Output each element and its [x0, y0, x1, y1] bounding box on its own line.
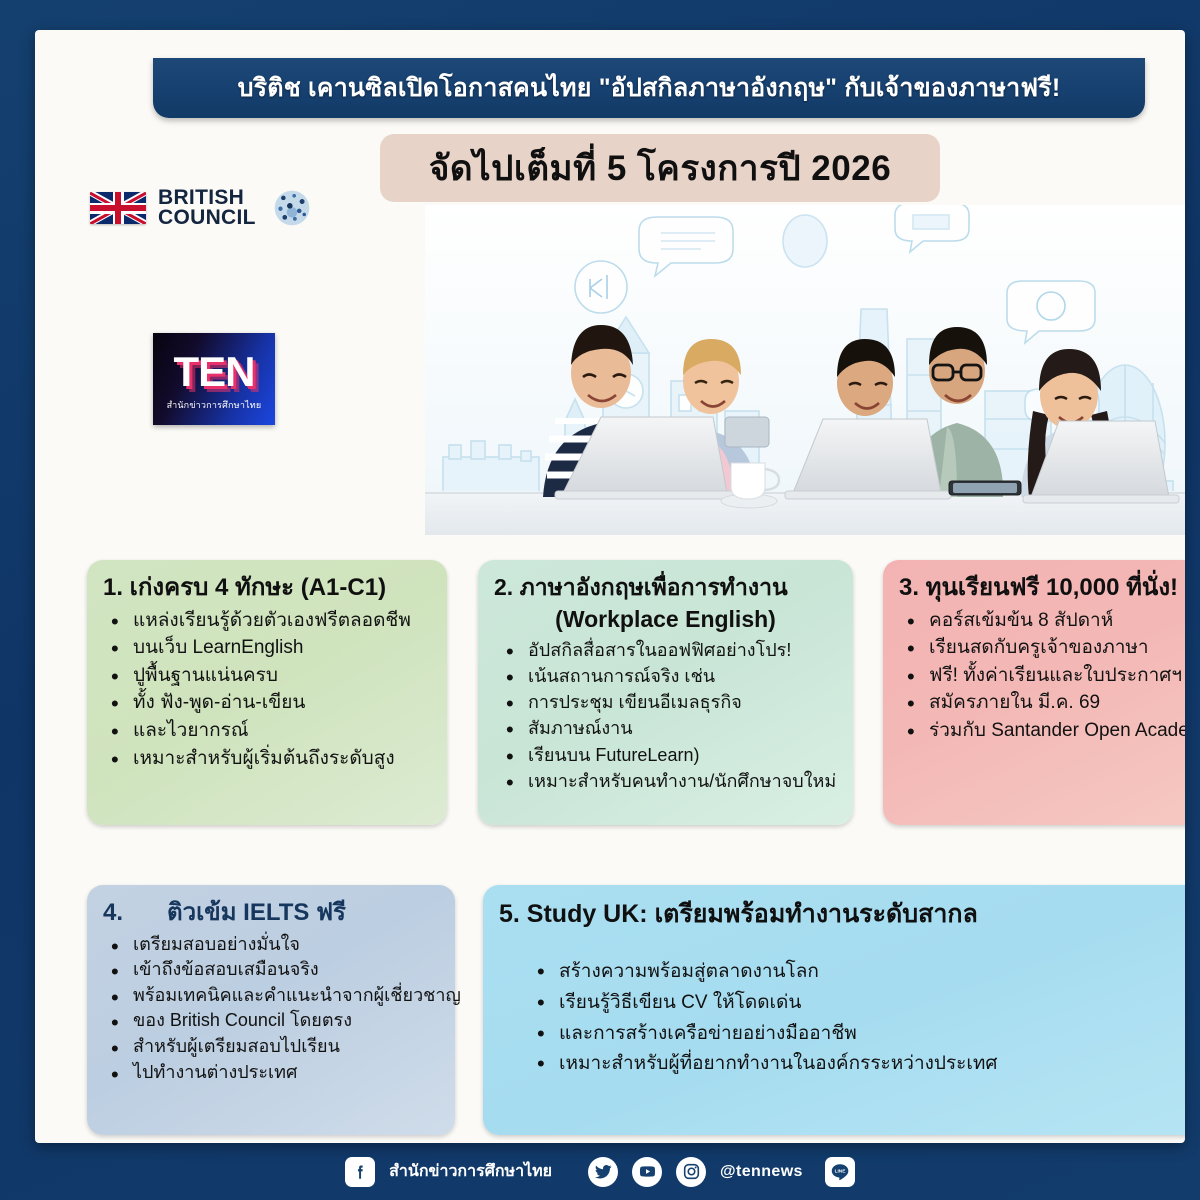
- program-card-4: 4. ติวเข้ม IELTS ฟรี เตรียมสอบอย่างมั่นใ…: [87, 885, 455, 1135]
- card-2-subtitle: (Workplace English): [494, 606, 837, 634]
- card-4-heading: ติวเข้ม IELTS ฟรี: [167, 899, 346, 928]
- facebook-icon[interactable]: [345, 1157, 375, 1187]
- twitter-icon[interactable]: [588, 1157, 618, 1187]
- card-5-list: สร้างความพร้อมสู่ตลาดงานโลก เรียนรู้วิธี…: [499, 957, 1185, 1080]
- list-item: ทั้ง ฟัง-พูด-อ่าน-เขียน: [103, 689, 431, 717]
- facebook-label: สำนักข่าวการศึกษาไทย: [389, 1159, 552, 1184]
- list-item: พร้อมเทคนิคและคำแนะนำจากผู้เชี่ยวชาญ: [103, 983, 439, 1009]
- youtube-icon[interactable]: [632, 1157, 662, 1187]
- list-item: และการสร้างเครือข่ายอย่างมืออาชีพ: [499, 1019, 1185, 1050]
- header-banner: บริติช เคานซิลเปิดโอกาสคนไทย "อัปสกิลภาษ…: [153, 58, 1145, 118]
- british-council-logo: BRITISH COUNCIL: [90, 188, 310, 228]
- list-item: เข้าถึงข้อสอบเสมือนจริง: [103, 957, 439, 983]
- british-council-globe-icon: [274, 190, 310, 226]
- program-card-3: 3. ทุนเรียนฟรี 10,000 ที่นั่ง! คอร์สเข้ม…: [883, 560, 1185, 825]
- subtitle-pill: จัดไปเต็มที่ 5 โครงการปี 2026: [380, 134, 940, 202]
- list-item: สัมภาษณ์งาน: [494, 715, 837, 741]
- list-item: เหมาะสำหรับผู้ที่อยากทำงานในองค์กรระหว่า…: [499, 1049, 1185, 1080]
- list-item: เหมาะสำหรับผู้เริ่มต้นถึงระดับสูง: [103, 745, 431, 773]
- list-item: ของ British Council โดยตรง: [103, 1008, 439, 1034]
- program-card-1: 1. เก่งครบ 4 ทักษะ (A1-C1) แหล่งเรียนรู้…: [87, 560, 447, 825]
- instagram-handle: @tennews: [720, 1163, 803, 1181]
- line-icon[interactable]: LINE: [825, 1157, 855, 1187]
- union-jack-icon: [90, 192, 146, 224]
- ten-logo-subtitle: สำนักข่าวการศึกษาไทย: [167, 398, 262, 412]
- list-item: คอร์สเข้มข้น 8 สัปดาห์: [899, 607, 1185, 635]
- list-item: ปูพื้นฐานแน่นครบ: [103, 662, 431, 690]
- card-1-title: 1. เก่งครบ 4 ทักษะ (A1-C1): [103, 574, 431, 603]
- program-card-2: 2. ภาษาอังกฤษเพื่อการทำงาน (Workplace En…: [478, 560, 853, 825]
- british-council-line-2: COUNCIL: [158, 208, 256, 228]
- card-4-list: เตรียมสอบอย่างมั่นใจ เข้าถึงข้อสอบเสมือน…: [103, 932, 439, 1085]
- ten-logo-word: TEN: [174, 351, 255, 393]
- list-item: เรียนรู้วิธีเขียน CV ให้โดดเด่น: [499, 988, 1185, 1019]
- list-item: สร้างความพร้อมสู่ตลาดงานโลก: [499, 957, 1185, 988]
- list-item: แหล่งเรียนรู้ด้วยตัวเองฟรีตลอดชีพ: [103, 607, 431, 635]
- list-item: สำหรับผู้เตรียมสอบไปเรียน: [103, 1034, 439, 1060]
- poster-root: บริติช เคานซิลเปิดโอกาสคนไทย "อัปสกิลภาษ…: [0, 0, 1200, 1200]
- ten-news-logo: TEN สำนักข่าวการศึกษาไทย: [153, 333, 275, 425]
- list-item: ร่วมกับ Santander Open Academy: [899, 717, 1185, 745]
- card-2-list: อัปสกิลสื่อสารในออฟฟิศอย่างโปร! เน้นสถาน…: [494, 637, 837, 794]
- card-5-title: 5. Study UK: เตรียมพร้อมทำงานระดับสากล: [499, 899, 1185, 929]
- list-item: เตรียมสอบอย่างมั่นใจ: [103, 932, 439, 958]
- subtitle-text: จัดไปเต็มที่ 5 โครงการปี 2026: [429, 141, 891, 196]
- list-item: เน้นสถานการณ์จริง เช่น: [494, 663, 837, 689]
- list-item: เหมาะสำหรับคนทำงาน/นักศึกษาจบใหม่: [494, 768, 837, 794]
- social-footer: สำนักข่าวการศึกษาไทย @tennews LINE: [0, 1143, 1200, 1200]
- hero-photo: [425, 205, 1185, 535]
- svg-text:LINE: LINE: [834, 1168, 845, 1174]
- list-item: อัปสกิลสื่อสารในออฟฟิศอย่างโปร!: [494, 637, 837, 663]
- instagram-icon[interactable]: [676, 1157, 706, 1187]
- list-item: ฟรี! ทั้งค่าเรียนและใบประกาศฯ: [899, 662, 1185, 690]
- hero-illustration: [425, 205, 1185, 535]
- list-item: เรียนสดกับครูเจ้าของภาษา: [899, 634, 1185, 662]
- card-3-list: คอร์สเข้มข้น 8 สัปดาห์ เรียนสดกับครูเจ้า…: [899, 607, 1185, 745]
- british-council-wordmark: BRITISH COUNCIL: [158, 188, 256, 228]
- list-item: บนเว็บ LearnEnglish: [103, 634, 431, 662]
- card-4-number: 4.: [103, 899, 123, 928]
- header-banner-text: บริติช เคานซิลเปิดโอกาสคนไทย "อัปสกิลภาษ…: [238, 68, 1061, 108]
- list-item: ไปทำงานต่างประเทศ: [103, 1060, 439, 1086]
- british-council-line-1: BRITISH: [158, 188, 256, 208]
- card-2-title: 2. ภาษาอังกฤษเพื่อการทำงาน: [494, 574, 837, 602]
- card-4-title: 4. ติวเข้ม IELTS ฟรี: [103, 899, 439, 928]
- list-item: เรียนบน FutureLearn): [494, 742, 837, 768]
- list-item: สมัครภายใน มี.ค. 69: [899, 689, 1185, 717]
- list-item: การประชุม เขียนอีเมลธุรกิจ: [494, 689, 837, 715]
- program-card-5: 5. Study UK: เตรียมพร้อมทำงานระดับสากล ส…: [483, 885, 1185, 1135]
- list-item: และไวยากรณ์: [103, 717, 431, 745]
- page-card: บริติช เคานซิลเปิดโอกาสคนไทย "อัปสกิลภาษ…: [35, 30, 1185, 1143]
- card-3-title: 3. ทุนเรียนฟรี 10,000 ที่นั่ง!: [899, 574, 1185, 603]
- card-1-list: แหล่งเรียนรู้ด้วยตัวเองฟรีตลอดชีพ บนเว็บ…: [103, 607, 431, 772]
